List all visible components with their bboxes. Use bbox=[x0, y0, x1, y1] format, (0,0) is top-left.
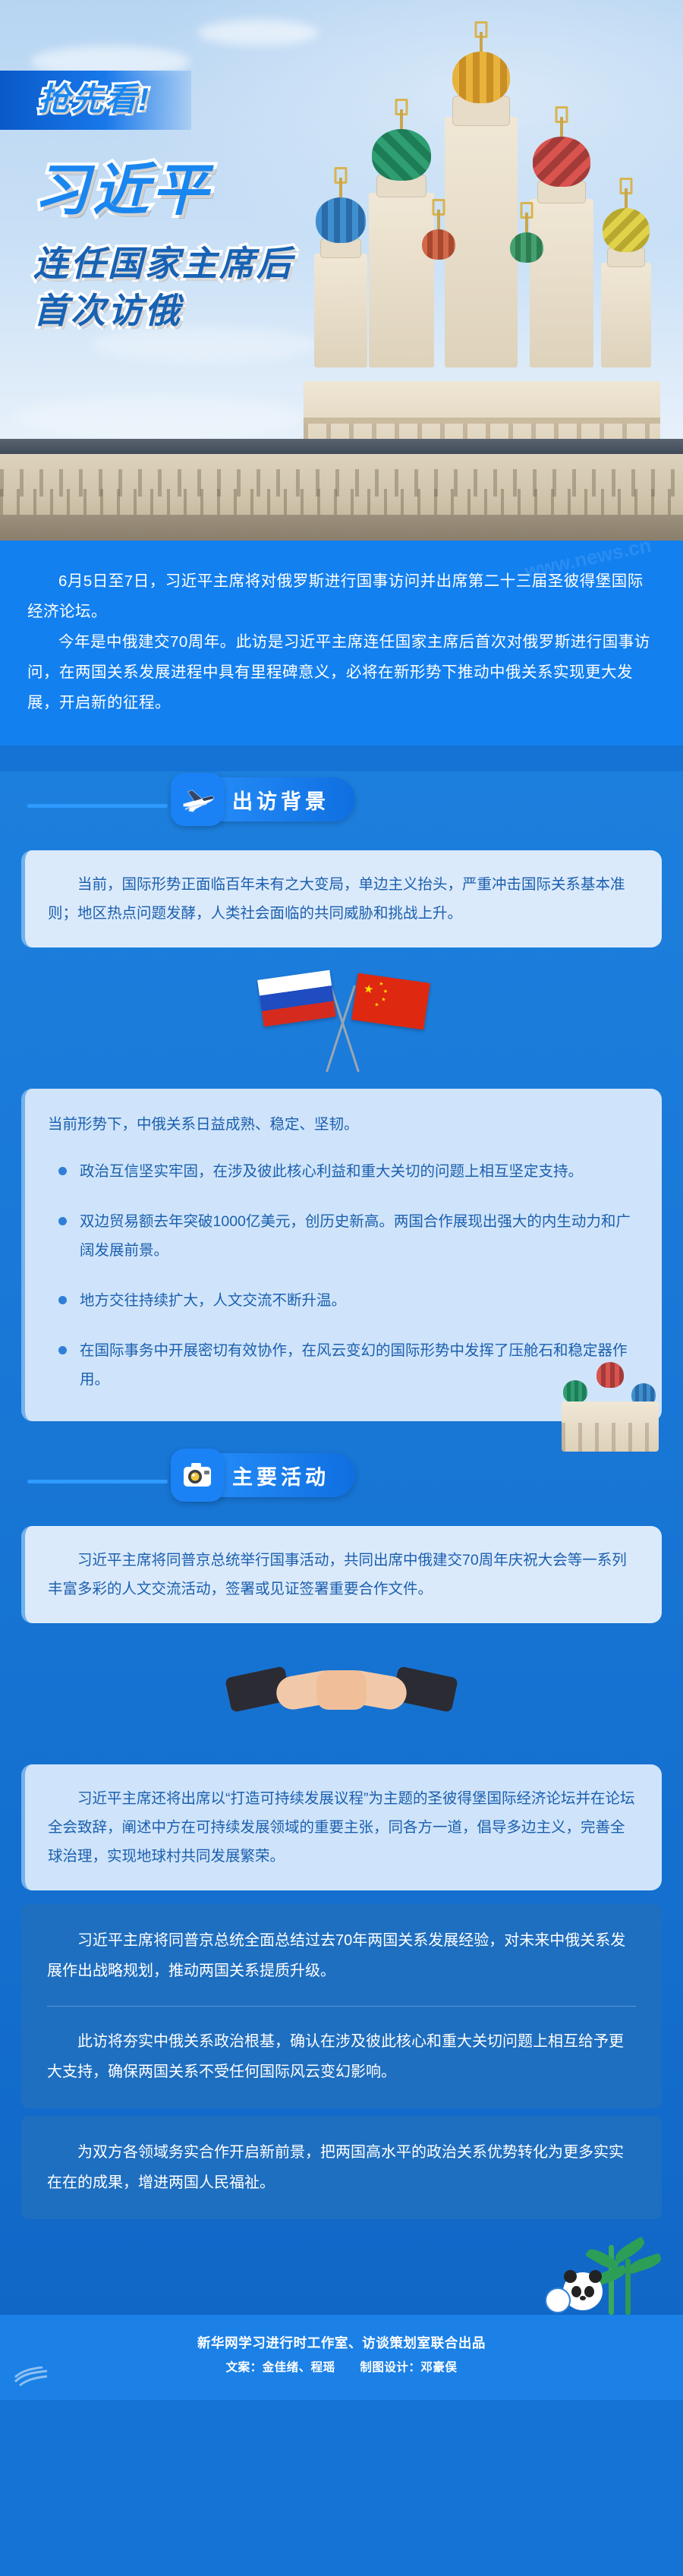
footer-credit-design: 制图设计：邓豪俣 bbox=[360, 2361, 457, 2374]
section-header-activities: 主要活动 bbox=[0, 1447, 683, 1512]
outcomes-text-2: 此访将夯实中俄关系政治根基，确认在涉及彼此核心和重大关切问题上相互给予更大支持，… bbox=[47, 2006, 636, 2087]
camera-icon bbox=[171, 1449, 224, 1502]
relations-bullet-list: 政治互信坚实牢固，在涉及彼此核心利益和重大关切的问题上相互坚定支持。 双边贸易额… bbox=[48, 1146, 639, 1405]
footer-credits: 文案：金佳绪、程瑶 制图设计：邓豪俣 bbox=[0, 2357, 683, 2379]
bamboo-icon bbox=[546, 2236, 660, 2315]
page-title: 习近平 bbox=[33, 158, 211, 223]
flags-illustration: ★ ★ ★ ★ ★ bbox=[0, 961, 683, 1075]
activities-text-1: 习近平主席将同普京总统举行国事活动，共同出席中俄建交70周年庆祝大会等一系列丰富… bbox=[48, 1546, 639, 1603]
gum-roof bbox=[0, 439, 683, 454]
airplane-icon bbox=[171, 773, 224, 826]
background-intro-panel: 当前，国际形势正面临百年未有之大变局，单边主义抬头，严重冲击国际关系基本准则；地… bbox=[21, 850, 662, 947]
panda-bamboo-decoration bbox=[0, 2233, 683, 2315]
section-rule bbox=[27, 1480, 168, 1483]
background-intro-text: 当前，国际形势正面临百年未有之大变局，单边主义抬头，严重冲击国际关系基本准则；地… bbox=[48, 870, 639, 928]
handshake-graphic bbox=[228, 1654, 455, 1737]
outcomes-panel: 习近平主席将同普京总统全面总结过去70年两国关系发展经验，对未来中俄关系发展作出… bbox=[21, 1904, 662, 2108]
intro-paragraph-1: 6月5日至7日，习近平主席将对俄罗斯进行国事访问并出席第二十三届圣彼得堡国际经济… bbox=[27, 566, 656, 627]
closing-panel: 为双方各领域务实合作开启新前景，把两国高水平的政治关系优势转化为更多实实在在的成… bbox=[21, 2116, 662, 2219]
hand-clasp bbox=[316, 1670, 367, 1710]
closing-text: 为双方各领域务实合作开启新前景，把两国高水平的政治关系优势转化为更多实实在在的成… bbox=[47, 2137, 636, 2198]
intro-block: www.news.cn 6月5日至7日，习近平主席将对俄罗斯进行国事访问并出席第… bbox=[0, 541, 683, 746]
infographic-page: 抢先看! 习近平 连任国家主席后 首次访俄 www.news.cn 6月5日至7… bbox=[0, 0, 683, 2576]
activities-panel-1: 习近平主席将同普京总统举行国事活动，共同出席中俄建交70周年庆祝大会等一系列丰富… bbox=[21, 1526, 662, 1623]
china-flag-icon: ★ ★ ★ ★ ★ bbox=[351, 973, 430, 1030]
footer: 新华网学习进行时工作室、访谈策划室联合出品 文案：金佳绪、程瑶 制图设计：邓豪俣 bbox=[0, 2315, 683, 2400]
body-section: 出访背景 当前，国际形势正面临百年未有之大变局，单边主义抬头，严重冲击国际关系基… bbox=[0, 771, 683, 2315]
list-item: 政治互信坚实牢固，在涉及彼此核心利益和重大关切的问题上相互坚定支持。 bbox=[48, 1146, 639, 1197]
section-header-background: 出访背景 bbox=[0, 771, 683, 837]
wave-decoration bbox=[14, 2366, 49, 2386]
page-subtitle-line2: 首次访俄 bbox=[33, 288, 294, 333]
page-subtitle: 连任国家主席后 首次访俄 bbox=[33, 241, 294, 336]
hero-section: 抢先看! 习近平 连任国家主席后 首次访俄 bbox=[0, 0, 683, 541]
red-square-ground bbox=[0, 515, 683, 541]
handshake-illustration bbox=[0, 1637, 683, 1751]
outcomes-text-1: 习近平主席将同普京总统全面总结过去70年两国关系发展经验，对未来中俄关系发展作出… bbox=[47, 1925, 636, 1986]
body-content: 出访背景 当前，国际形势正面临百年未有之大变局，单边主义抬头，严重冲击国际关系基… bbox=[0, 771, 683, 2315]
page-subtitle-line1: 连任国家主席后 bbox=[33, 241, 294, 285]
section-title-background: 出访背景 bbox=[232, 785, 329, 815]
section-title-activities: 主要活动 bbox=[232, 1461, 329, 1490]
activities-panel-2: 习近平主席还将出席以“打造可持续发展议程”为主题的圣彼得堡国际经济论坛并在论坛全… bbox=[21, 1764, 662, 1890]
relations-lead-text: 当前形势下，中俄关系日益成熟、稳定、坚韧。 bbox=[48, 1110, 639, 1139]
list-item: 在国际事务中开展密切有效协作，在风云变幻的国际形势中发挥了压舱石和稳定器作用。 bbox=[48, 1326, 639, 1405]
section-rule bbox=[27, 804, 168, 808]
list-item: 地方交往持续扩大，人文交流不断升温。 bbox=[48, 1275, 639, 1326]
mini-kremlin-decoration bbox=[556, 1357, 669, 1455]
badge-label: 抢先看! bbox=[38, 77, 150, 122]
footer-credit-line: 新华网学习进行时工作室、访谈策划室联合出品 bbox=[0, 2332, 683, 2354]
st-basils-cathedral-illustration bbox=[296, 26, 675, 474]
cloud-shape bbox=[15, 395, 304, 440]
russia-flag-icon bbox=[257, 970, 336, 1027]
ball-icon bbox=[545, 2288, 571, 2313]
footer-credit-copy: 文案：金佳绪、程瑶 bbox=[226, 2361, 335, 2374]
activities-text-2: 习近平主席还将出席以“打造可持续发展议程”为主题的圣彼得堡国际经济论坛并在论坛全… bbox=[48, 1784, 639, 1871]
intro-paragraph-2: 今年是中俄建交70周年。此访是习近平主席连任国家主席后首次对俄罗斯进行国事访问，… bbox=[27, 627, 656, 718]
crossed-flags: ★ ★ ★ ★ ★ bbox=[247, 969, 436, 1072]
list-item: 双边贸易额去年突破1000亿美元，创历史新高。两国合作展现出强大的内生动力和广阔… bbox=[48, 1197, 639, 1275]
gum-building-illustration bbox=[0, 451, 683, 541]
